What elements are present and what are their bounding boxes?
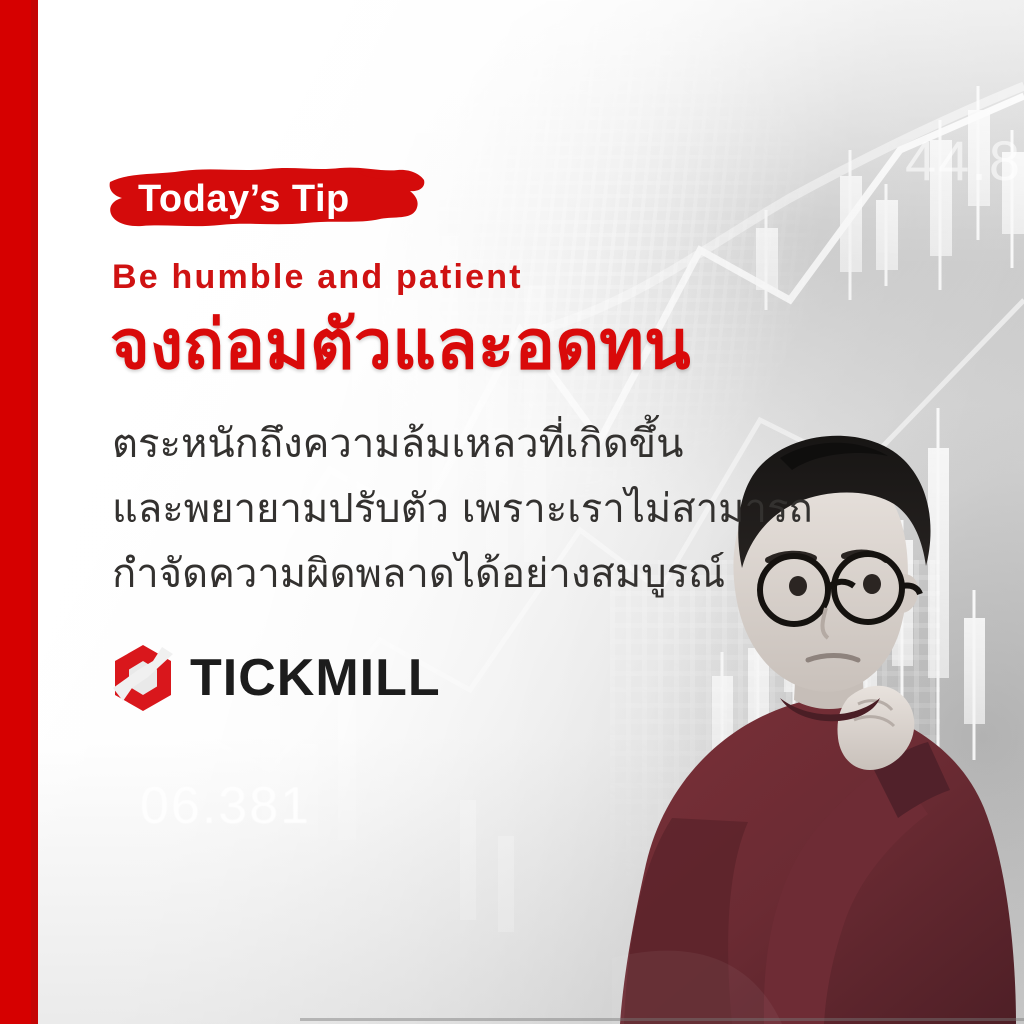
bottom-divider: [300, 1018, 1024, 1021]
todays-tip-badge: Today’s Tip: [108, 166, 426, 232]
body-line-1: ตระหนักถึงความล้มเหลวที่เกิดขึ้น: [112, 412, 812, 477]
headline-english: Be humble and patient: [112, 258, 523, 297]
tickmill-hexagon-icon: [112, 644, 174, 712]
body-line-3: กำจัดความผิดพลาดได้อย่างสมบูรณ์: [112, 542, 812, 607]
body-line-2: และพยายามปรับตัว เพราะเราไม่สามารถ: [112, 477, 812, 542]
tickmill-logo: TICKMILL: [112, 644, 441, 712]
headline-thai: จงถ่อมตัวและอดทน: [110, 310, 691, 381]
body-paragraph: ตระหนักถึงความล้มเหลวที่เกิดขึ้น และพยาย…: [112, 412, 812, 606]
todays-tip-label: Today’s Tip: [108, 166, 408, 232]
tickmill-tip-poster: 44.87 06.381: [0, 0, 1024, 1024]
content-area: Today’s Tip Be humble and patient จงถ่อม…: [0, 0, 1024, 1024]
tickmill-wordmark: TICKMILL: [190, 652, 441, 704]
